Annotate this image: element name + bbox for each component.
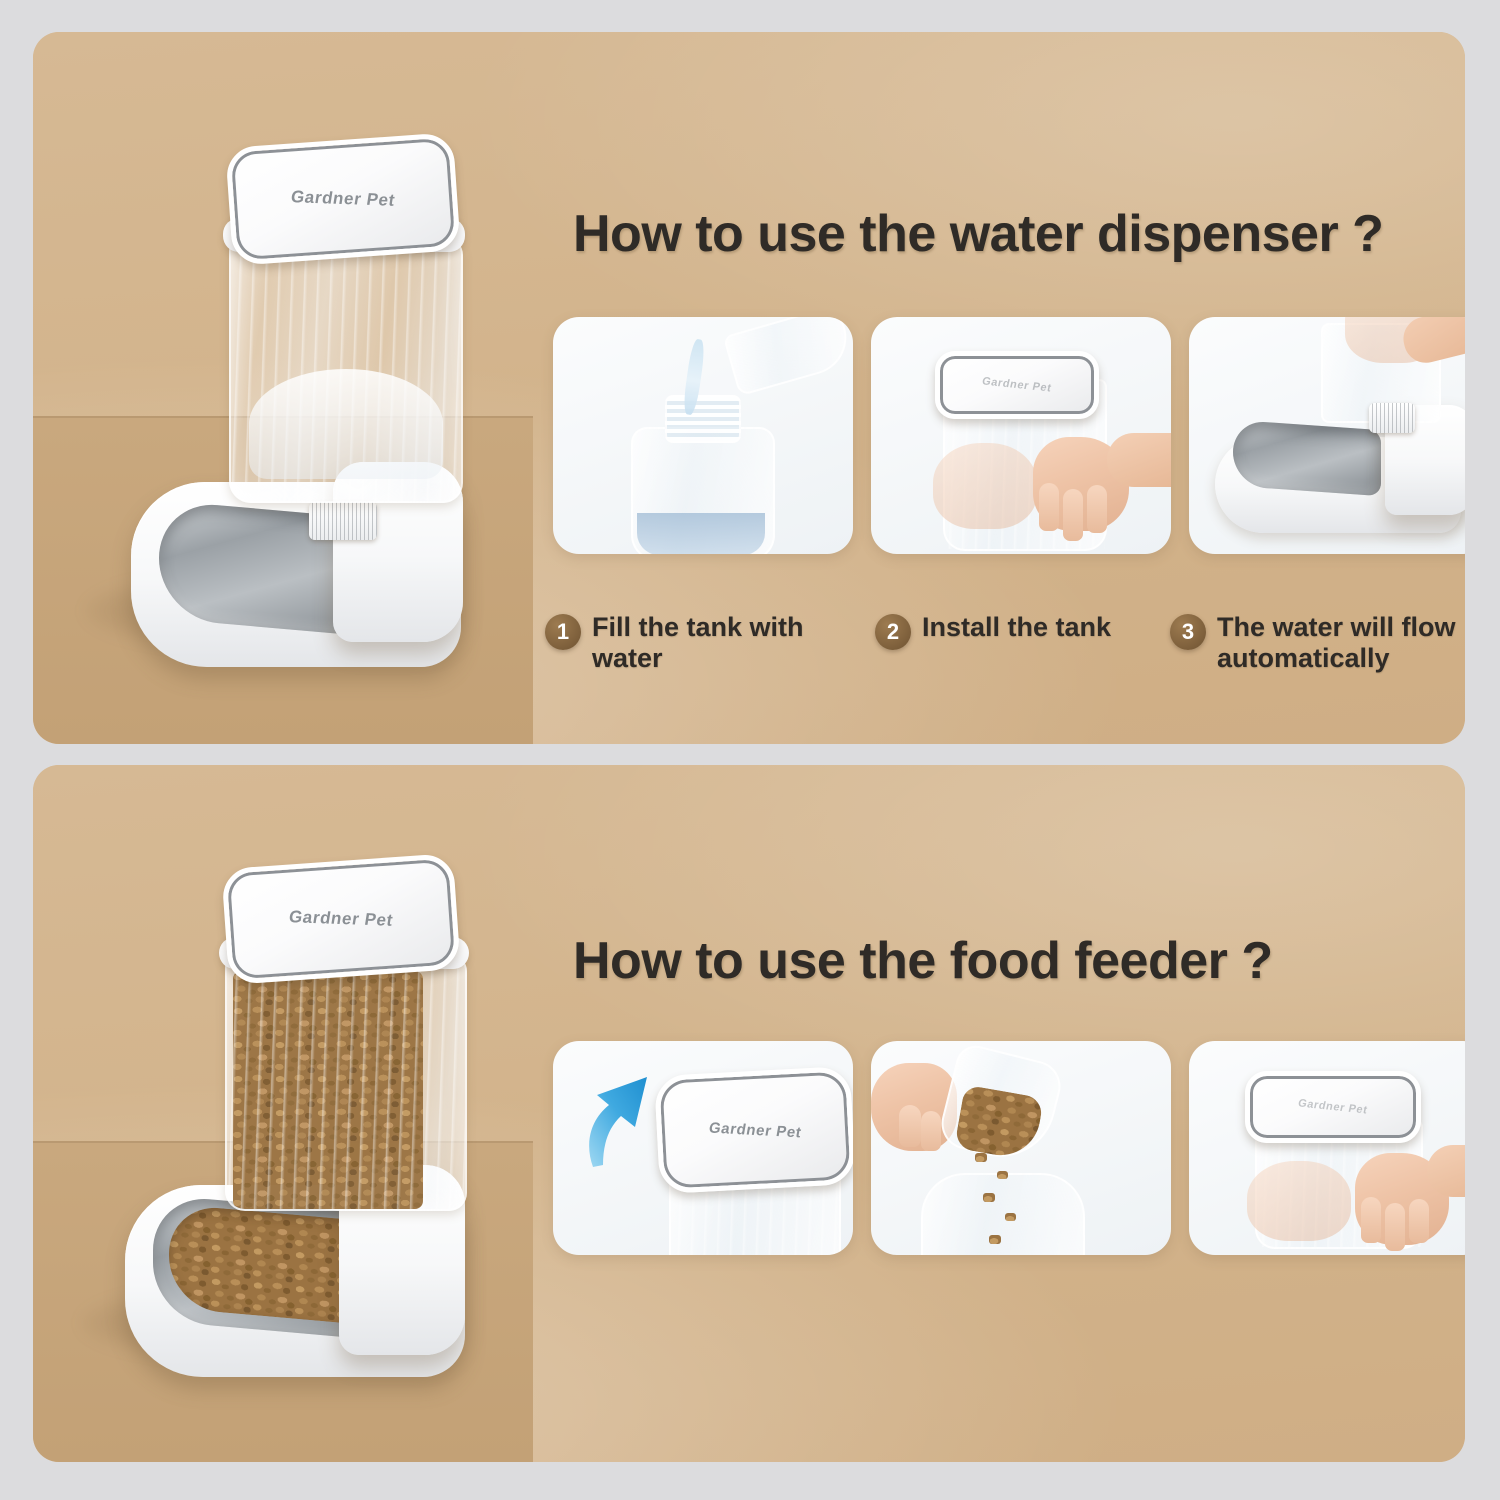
food-section-heading: How to use the food feeder ? bbox=[573, 931, 1273, 991]
device-lid: Gardner Pet bbox=[225, 132, 461, 266]
water-content-column: How to use the water dispenser ? bbox=[533, 32, 1465, 744]
water-level bbox=[637, 513, 765, 554]
step-badge: 3 bbox=[1170, 614, 1206, 650]
water-valve bbox=[309, 502, 377, 540]
water-tank bbox=[229, 237, 463, 503]
valve-ribs bbox=[309, 502, 377, 540]
tank-lid: Gardner Pet bbox=[935, 351, 1099, 419]
water-dispenser-device: Gardner Pet bbox=[33, 32, 533, 744]
left-hand bbox=[1247, 1161, 1351, 1241]
step-badge: 2 bbox=[875, 614, 911, 650]
lid-brand-label: Gardner Pet bbox=[981, 375, 1053, 394]
food-content-column: How to use the food feeder ? bbox=[533, 765, 1465, 1462]
tank-ribs bbox=[227, 957, 465, 1209]
hero-food-feeder: Gardner Pet bbox=[33, 765, 533, 1462]
water-section-heading: How to use the water dispenser ? bbox=[573, 204, 1383, 264]
step-item: 3 The water will flow automatically bbox=[1170, 612, 1465, 674]
tank-lid: Gardner Pet bbox=[1245, 1071, 1421, 1143]
falling-kibble bbox=[997, 1171, 1008, 1179]
up-arrow-icon bbox=[575, 1069, 661, 1173]
food-feeder-device: Gardner Pet bbox=[33, 765, 533, 1462]
section-panel-food: Gardner Pet How to use the food feeder ? bbox=[33, 765, 1465, 1462]
food-tank bbox=[225, 955, 467, 1211]
tank-internal-assembly bbox=[249, 369, 443, 479]
bottle-neck-threads bbox=[665, 395, 741, 443]
lid-brand-label: Gardner Pet bbox=[1297, 1097, 1369, 1116]
falling-kibble bbox=[975, 1153, 987, 1162]
receiving-tank bbox=[921, 1173, 1085, 1255]
food-card-row: Gardner Pet bbox=[553, 1041, 1465, 1255]
water-card-row: Gardner Pet bbox=[553, 317, 1465, 554]
food-card-3[interactable]: Gardner Pet bbox=[1189, 1041, 1465, 1255]
left-hand bbox=[933, 443, 1037, 529]
step-label: Install the tank bbox=[922, 612, 1111, 643]
lid-brand-label: Gardner Pet bbox=[287, 907, 394, 931]
lid-brand-label: Gardner Pet bbox=[289, 187, 396, 211]
device-lid: Gardner Pet bbox=[221, 853, 461, 985]
infographic-stage: Gardner Pet How to use the water dispens… bbox=[0, 0, 1500, 1500]
valve-ribs bbox=[1369, 403, 1415, 433]
water-card-1[interactable] bbox=[553, 317, 853, 554]
pouring-jug bbox=[723, 317, 853, 396]
forearm bbox=[1107, 433, 1171, 487]
step-badge: 1 bbox=[545, 614, 581, 650]
section-panel-water: Gardner Pet How to use the water dispens… bbox=[33, 32, 1465, 744]
water-card-3[interactable] bbox=[1189, 317, 1465, 554]
step-label: Fill the tank with water bbox=[592, 612, 842, 674]
lid-brand-label: Gardner Pet bbox=[707, 1119, 802, 1141]
water-card-2[interactable]: Gardner Pet bbox=[871, 317, 1171, 554]
falling-kibble bbox=[1005, 1213, 1016, 1221]
step-item: 2 Install the tank bbox=[875, 612, 1170, 674]
water-valve bbox=[1369, 403, 1415, 433]
falling-kibble bbox=[983, 1193, 995, 1202]
hero-water-dispenser: Gardner Pet bbox=[33, 32, 533, 744]
detached-lid: Gardner Pet bbox=[654, 1066, 853, 1194]
water-step-row: 1 Fill the tank with water 2 Install the… bbox=[545, 612, 1465, 674]
falling-kibble bbox=[989, 1235, 1001, 1244]
food-card-1[interactable]: Gardner Pet bbox=[553, 1041, 853, 1255]
step-item: 1 Fill the tank with water bbox=[545, 612, 875, 674]
step-label: The water will flow automatically bbox=[1217, 612, 1465, 674]
water-bowl bbox=[1233, 420, 1381, 496]
food-card-2[interactable] bbox=[871, 1041, 1171, 1255]
